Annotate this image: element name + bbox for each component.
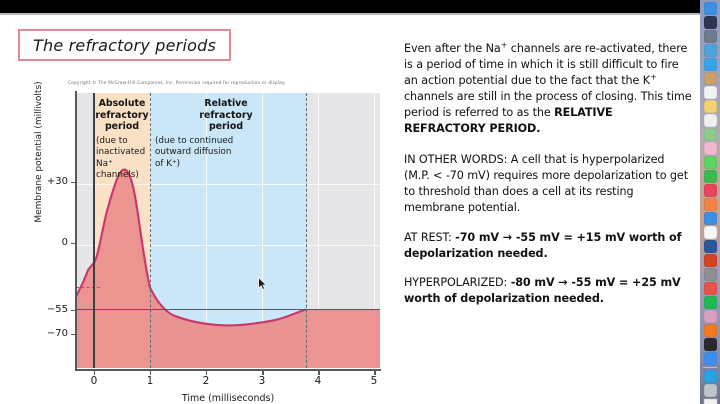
x-tick-label-3: 3 [254,375,270,387]
slack-icon[interactable] [704,310,717,323]
y-tick-label-minus70: −70 [34,328,68,339]
absolute-title-l2: refractory [95,110,148,121]
copyright-notice: Copyright © The McGraw-Hill Companies, I… [68,80,374,85]
para1-lead: Even after the Na [404,42,501,55]
stimulus-time-line [93,93,95,368]
relative-period-boundary [306,93,307,368]
spotify-icon[interactable] [704,296,717,309]
relative-sub-l1: (due to continued [155,136,233,146]
messages-icon[interactable] [704,156,717,169]
itunes-icon[interactable] [704,184,717,197]
calendar-icon[interactable] [704,86,717,99]
relative-refractory-subtitle: (due to continued outward diffusion of K… [155,136,305,170]
photos-icon[interactable] [704,142,717,155]
potassium-superscript-1: + [650,72,657,81]
absolute-period-boundary [150,93,151,368]
absolute-title-l1: Absolute [99,98,146,109]
para1-b: channels are still in the process of clo… [404,90,692,119]
resting-potential-line [76,309,380,311]
slide-canvas: The refractory periods Copyright © The M… [0,15,697,404]
explanation-paragraph-1: Even after the Na+ channels are re-activ… [404,41,692,138]
screen: The refractory periods Copyright © The M… [0,0,720,404]
relative-title-l1: Relative [204,98,247,109]
reminders-icon[interactable] [704,114,717,127]
action-potential-figure: Copyright © The McGraw-Hill Companies, I… [8,63,388,403]
word-icon[interactable] [704,240,717,253]
x-axis-line [75,369,381,371]
absolute-refractory-subtitle: (due to inactivated Na⁺ channels) [96,136,152,182]
safari-icon[interactable] [704,44,717,57]
hyperpolarized-label: HYPERPOLARIZED: [404,276,511,289]
top-black-band [0,0,712,13]
x-tick-label-4: 4 [310,375,326,387]
relative-sub-l2: outward diffusion [155,147,231,157]
relative-title-l2: refractory [199,110,252,121]
skype-icon[interactable] [704,370,717,383]
action-potential-curve [76,93,380,368]
mail-icon[interactable] [704,58,717,71]
dock-separator [703,367,717,368]
x-tick-label-2: 2 [198,375,214,387]
y-tick-label-0: 0 [34,237,68,248]
absolute-sub-l2: inactivated [96,147,145,157]
preview-icon[interactable] [704,226,717,239]
macos-dock[interactable] [700,0,720,404]
trash-icon[interactable] [704,384,717,397]
appstore-icon[interactable] [704,212,717,225]
ibooks-icon[interactable] [704,198,717,211]
x-tick-label-1: 1 [142,375,158,387]
relative-refractory-title: Relative refractory period [184,98,268,133]
explanation-paragraph-2: IN OTHER WORDS: A cell that is hyperpola… [404,152,692,216]
vlc-icon[interactable] [704,324,717,337]
relative-sub-l3: of K⁺) [155,159,180,169]
mouse-cursor [258,277,267,290]
threshold-dashed-line [76,287,100,288]
maps-icon[interactable] [704,128,717,141]
notes-icon[interactable] [704,100,717,113]
contacts-icon[interactable] [704,72,717,85]
absolute-sub-l1: (due to [96,136,128,146]
x-axis-label: Time (milliseconds) [76,393,380,404]
dock-icon-strip [702,2,718,404]
y-axis-label: Membrane potential (millivolts) [34,67,44,237]
terminal-icon[interactable] [704,338,717,351]
document-thumb-1[interactable] [703,398,718,404]
explanation-paragraph-4: HYPERPOLARIZED: -80 mV → -55 mV = +25 mV… [404,275,692,307]
x-tick-label-5: 5 [366,375,382,387]
siri-icon[interactable] [704,16,717,29]
slide-title-box: The refractory periods [18,29,231,61]
y-tick-label-minus55: −55 [34,304,68,315]
chrome-icon[interactable] [704,282,717,295]
page-title: The refractory periods [33,36,216,55]
finder-icon[interactable] [704,2,717,15]
facetime-icon[interactable] [704,170,717,183]
y-tick-label-30: +30 [34,176,68,187]
relative-title-l3: period [209,121,243,132]
absolute-title-l3: period [105,121,139,132]
absolute-sub-l3: Na⁺ channels) [96,159,139,180]
plot-area: Absolute refractory period (due to inact… [76,93,380,368]
explanation-paragraph-3: AT REST: -70 mV → -55 mV = +15 mV worth … [404,230,692,262]
at-rest-label: AT REST: [404,231,455,244]
powerpoint-icon[interactable] [704,254,717,267]
explanation-column: Even after the Na+ channels are re-activ… [404,41,692,321]
launchpad-icon[interactable] [704,30,717,43]
y-axis-line [75,91,77,371]
absolute-refractory-title: Absolute refractory period [94,98,150,133]
settings-icon[interactable] [704,268,717,281]
zoom-icon[interactable] [704,352,717,365]
x-tick-label-0: 0 [86,375,102,387]
